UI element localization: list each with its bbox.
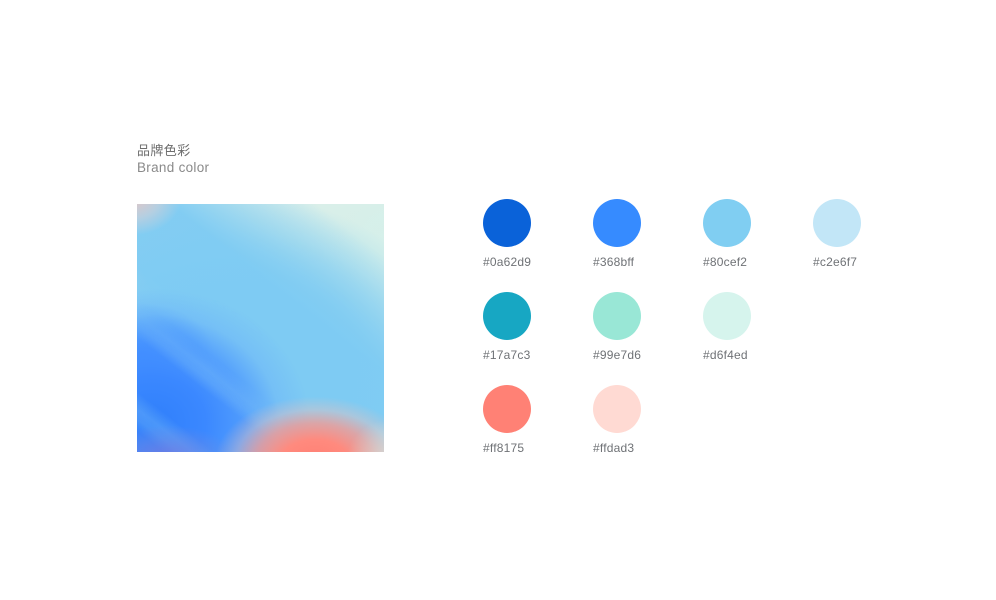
swatch-label: #17a7c3 — [483, 348, 530, 362]
swatch-dot[interactable] — [813, 199, 861, 247]
swatch-item[interactable]: #80cef2 — [703, 199, 813, 292]
swatch-label: #c2e6f7 — [813, 255, 857, 269]
swatch-item[interactable]: #0a62d9 — [483, 199, 593, 292]
swatch-label: #80cef2 — [703, 255, 747, 269]
swatch-item[interactable]: #368bff — [593, 199, 703, 292]
swatch-dot[interactable] — [593, 385, 641, 433]
gradient-layer-warm-corner — [137, 204, 384, 452]
swatch-dot[interactable] — [483, 292, 531, 340]
swatch-label: #368bff — [593, 255, 634, 269]
swatch-dot[interactable] — [593, 292, 641, 340]
swatch-label: #ffdad3 — [593, 441, 634, 455]
swatch-dot[interactable] — [703, 292, 751, 340]
swatch-label: #99e7d6 — [593, 348, 641, 362]
page-title-cn: 品牌色彩 — [137, 144, 209, 157]
swatch-label: #0a62d9 — [483, 255, 531, 269]
page-title-en: Brand color — [137, 161, 209, 175]
swatch-label: #d6f4ed — [703, 348, 748, 362]
swatch-dot[interactable] — [483, 199, 531, 247]
brand-color-swatch-grid: #0a62d9 #368bff #80cef2 #c2e6f7 #17a7c3 … — [483, 199, 923, 478]
swatch-item[interactable]: #ff8175 — [483, 385, 593, 478]
swatch-dot[interactable] — [703, 199, 751, 247]
swatch-dot[interactable] — [483, 385, 531, 433]
swatch-item[interactable]: #c2e6f7 — [813, 199, 923, 292]
swatch-label: #ff8175 — [483, 441, 524, 455]
swatch-item[interactable]: #17a7c3 — [483, 292, 593, 385]
brand-color-page: 品牌色彩 Brand color #0a62d9 #368bff #80cef2 — [0, 0, 996, 600]
swatch-item[interactable]: #ffdad3 — [593, 385, 703, 478]
brand-gradient-artwork — [137, 204, 384, 452]
swatch-item[interactable]: #d6f4ed — [703, 292, 813, 385]
swatch-item[interactable]: #99e7d6 — [593, 292, 703, 385]
page-title-block: 品牌色彩 Brand color — [137, 144, 209, 175]
swatch-dot[interactable] — [593, 199, 641, 247]
